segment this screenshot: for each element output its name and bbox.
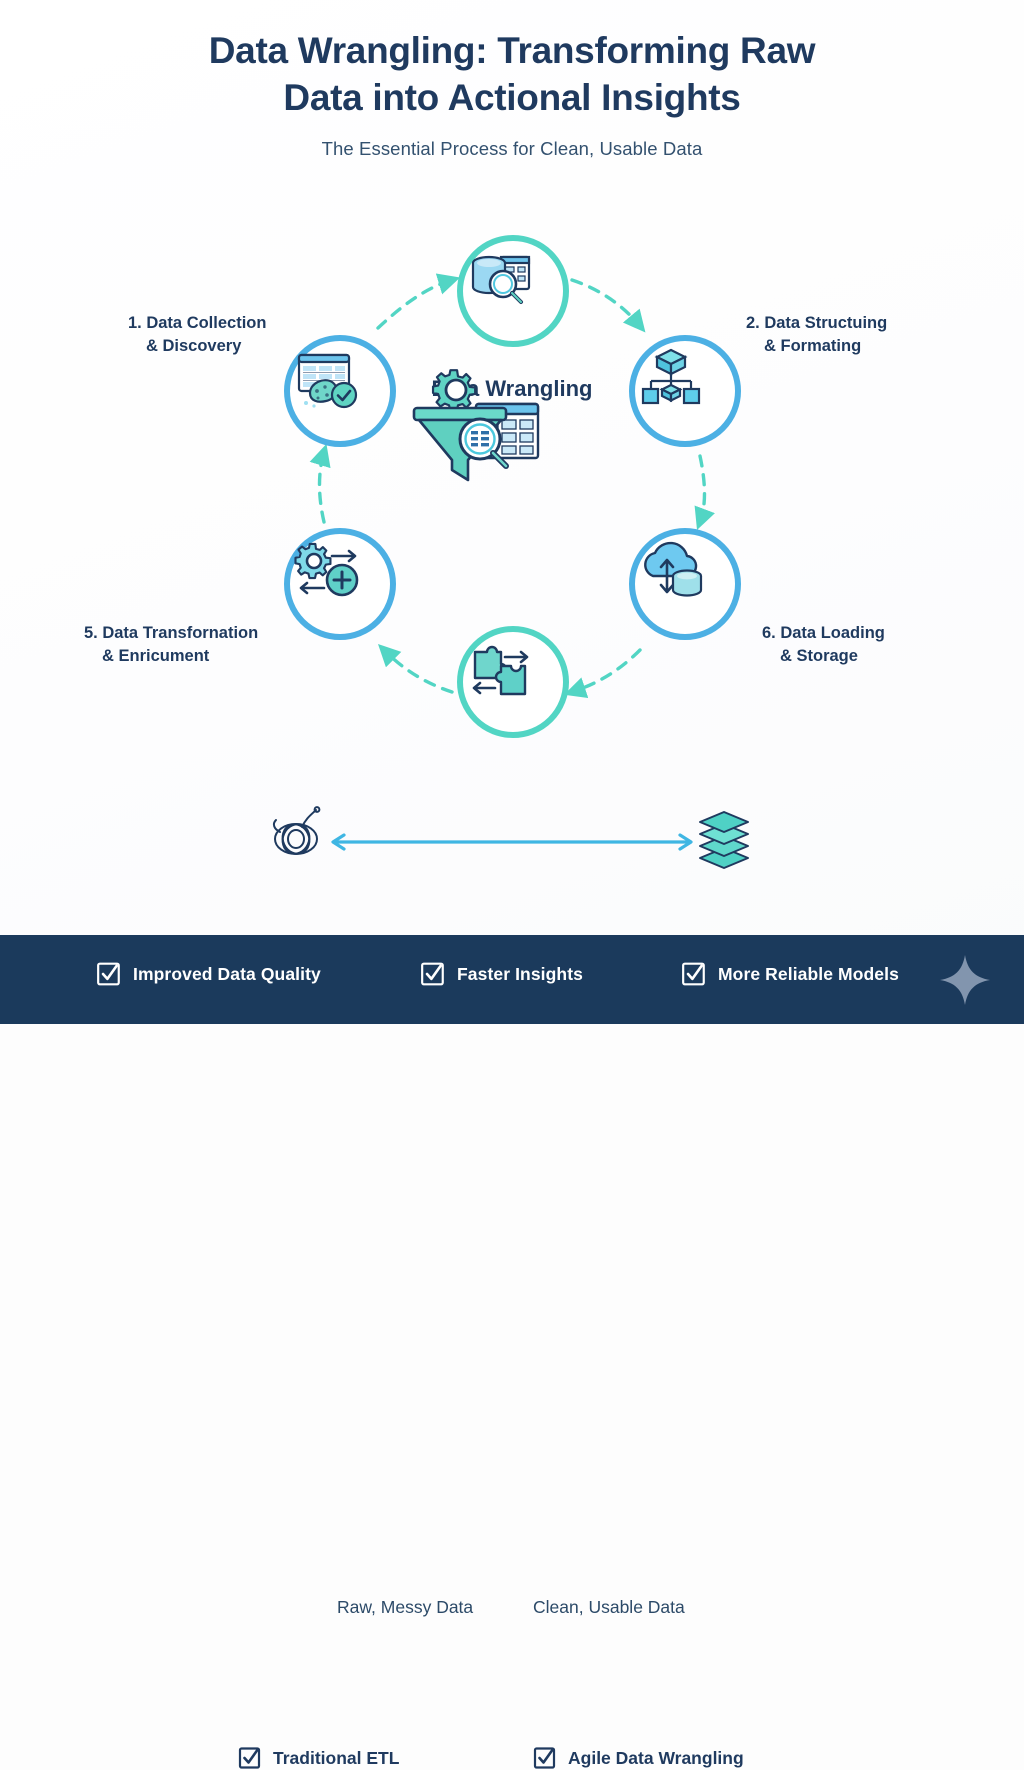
label-data-collection: 1. Data Collection & Discovery (128, 312, 266, 358)
checkbox-checked-icon (681, 961, 707, 987)
four-point-star-icon (938, 953, 992, 1007)
footer-item-more-reliable-models[interactable]: More Reliable Models (681, 961, 899, 987)
arrow-2-to-3 (572, 280, 640, 326)
node-data-collection[interactable] (284, 335, 396, 447)
puzzle-exchange-icon (463, 632, 537, 706)
node-data-loading[interactable] (629, 528, 741, 640)
arrow-5-to-6 (384, 650, 452, 692)
check-item-traditional-etl[interactable]: Traditional ETL (238, 1746, 399, 1770)
hierarchy-cubes-icon (635, 341, 707, 413)
arrow-3-to-4 (700, 456, 705, 522)
check-item-agile-data-wrangling[interactable]: Agile Data Wrangling (533, 1746, 744, 1770)
label-data-loading: 6. Data Loading & Storage (762, 622, 885, 668)
label-2-line-2: & Formating (746, 335, 887, 358)
raw-data-label: Raw, Messy Data (337, 1597, 473, 1618)
gear-funnel-magnifier-spreadsheet-icon (392, 368, 548, 496)
arrow-6-to-1 (320, 452, 325, 522)
header: Data Wrangling: Transforming Raw Data in… (0, 28, 1024, 160)
page-title: Data Wrangling: Transforming Raw Data in… (132, 28, 892, 122)
label-data-transformation: 5. Data Transfornation & Enricument (84, 622, 258, 668)
arrow-4-to-5 (572, 650, 640, 692)
label-data-structuring: 2. Data Structuing & Formating (746, 312, 887, 358)
check-label: Traditional ETL (273, 1748, 399, 1769)
title-line-1: Data Wrangling: Transforming Raw (132, 28, 892, 75)
clean-data-label: Clean, Usable Data (533, 1597, 685, 1618)
cloud-database-sync-icon (635, 534, 709, 608)
label-1-line-1: 1. Data Collection (128, 314, 266, 332)
page-subtitle: The Essential Process for Clean, Usable … (0, 138, 1024, 160)
label-6-line-2: & Storage (762, 645, 885, 668)
cycle-diagram: 1. Data Collection & Discovery 2. Data S… (0, 180, 1024, 790)
gear-plus-arrows-icon (290, 534, 364, 608)
layered-stack-icon (700, 812, 748, 868)
tangled-yarn-icon (274, 807, 319, 858)
checkbox-checked-icon (420, 961, 446, 987)
check-label: Agile Data Wrangling (568, 1748, 744, 1769)
footer-bar: Improved Data Quality Faster Insights Mo… (0, 935, 1024, 1024)
label-6-line-1: 6. Data Loading (762, 624, 885, 642)
method-check-row: Traditional ETL Agile Data Wrangling (0, 870, 1024, 918)
footer-item-improved-data-quality[interactable]: Improved Data Quality (96, 961, 321, 987)
label-1-line-2: & Discovery (128, 335, 266, 358)
node-data-transformation[interactable] (284, 528, 396, 640)
spreadsheet-sponge-check-icon (290, 341, 364, 415)
node-data-discovery[interactable] (457, 235, 569, 347)
infographic-canvas: Data Wrangling: Transforming Raw Data in… (0, 0, 1024, 1024)
node-data-structuring[interactable] (629, 335, 741, 447)
database-magnifier-document-icon (463, 241, 537, 315)
footer-label: Improved Data Quality (133, 964, 321, 985)
checkbox-checked-icon (96, 961, 122, 987)
checkbox-checked-icon (238, 1746, 262, 1770)
arrow-1-to-2 (378, 280, 452, 328)
title-line-2: Data into Actional Insights (132, 75, 892, 122)
label-5-line-2: & Enricument (84, 645, 258, 668)
footer-label: Faster Insights (457, 964, 583, 985)
node-data-integration[interactable] (457, 626, 569, 738)
footer-item-faster-insights[interactable]: Faster Insights (420, 961, 583, 987)
footer-label: More Reliable Models (718, 964, 899, 985)
label-2-line-1: 2. Data Structuing (746, 314, 887, 332)
checkbox-checked-icon (533, 1746, 557, 1770)
core-block: Data Wrangling Core (392, 368, 632, 598)
label-5-line-1: 5. Data Transfornation (84, 624, 258, 642)
